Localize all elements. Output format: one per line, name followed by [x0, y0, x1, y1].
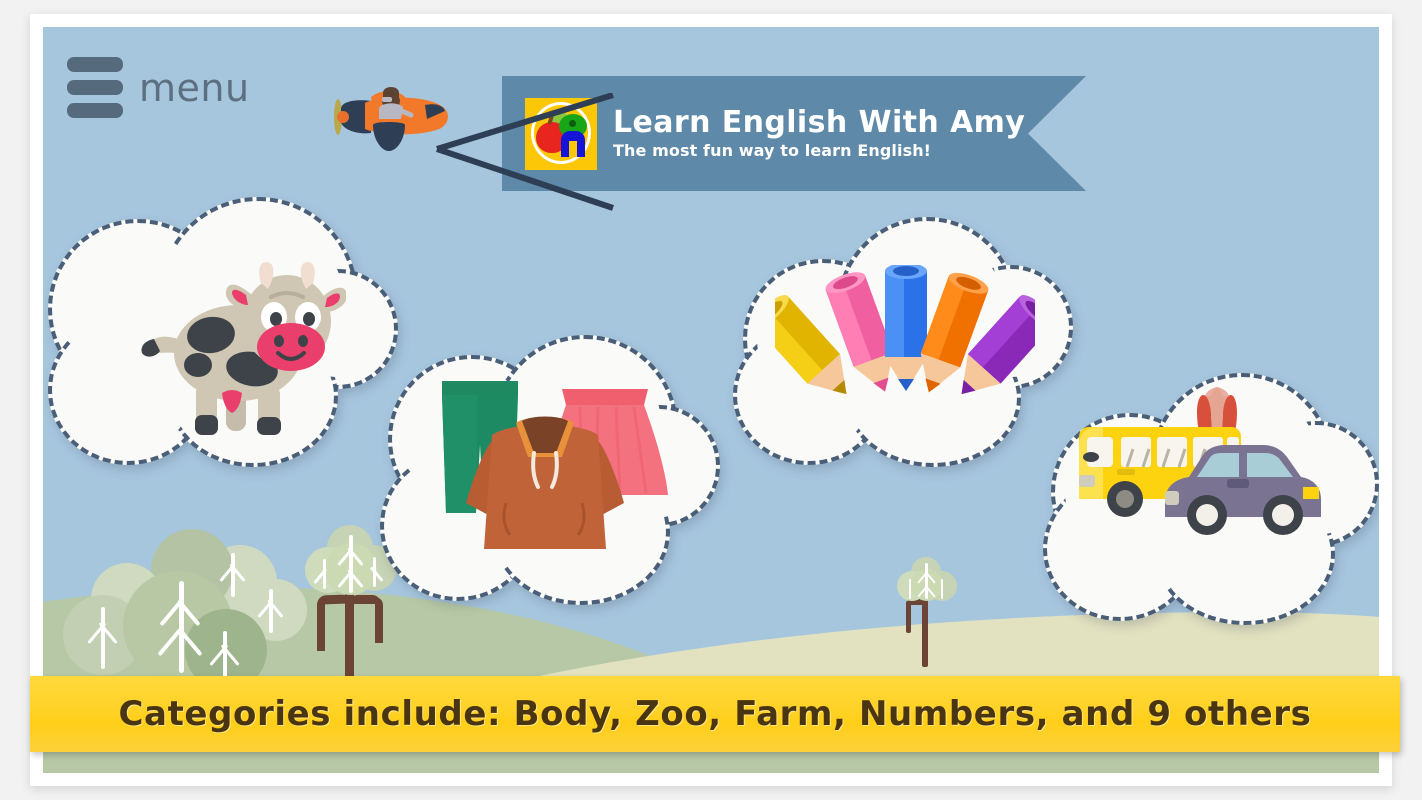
clothes-illustration	[430, 371, 680, 561]
cloud-vehicles[interactable]	[1043, 365, 1379, 625]
app-stage: menu	[43, 27, 1379, 773]
app-screenshot: menu	[0, 0, 1422, 800]
app-title: Learn English With Amy	[613, 107, 1025, 139]
cow-illustration	[106, 235, 346, 435]
menu-button[interactable]: menu	[67, 57, 250, 118]
app-subtitle: The most fun way to learn English!	[613, 141, 1025, 160]
vehicles-illustration	[1067, 383, 1347, 563]
hamburger-icon[interactable]	[67, 57, 123, 118]
categories-banner: Categories include: Body, Zoo, Farm, Num…	[30, 676, 1400, 752]
cloud-farm[interactable]	[48, 197, 398, 467]
tree-right	[893, 557, 963, 667]
colored-pencils-illustration	[775, 265, 1035, 425]
categories-banner-text: Categories include: Body, Zoo, Farm, Num…	[118, 694, 1311, 734]
bush-cluster	[63, 527, 303, 687]
menu-label[interactable]: menu	[139, 66, 250, 110]
ribbon-notch	[1028, 76, 1086, 191]
cloud-school[interactable]	[733, 217, 1073, 467]
airplane-with-pilot-icon	[323, 75, 463, 159]
cloud-clothes[interactable]	[380, 335, 720, 605]
banner-connector-lines	[433, 93, 618, 213]
